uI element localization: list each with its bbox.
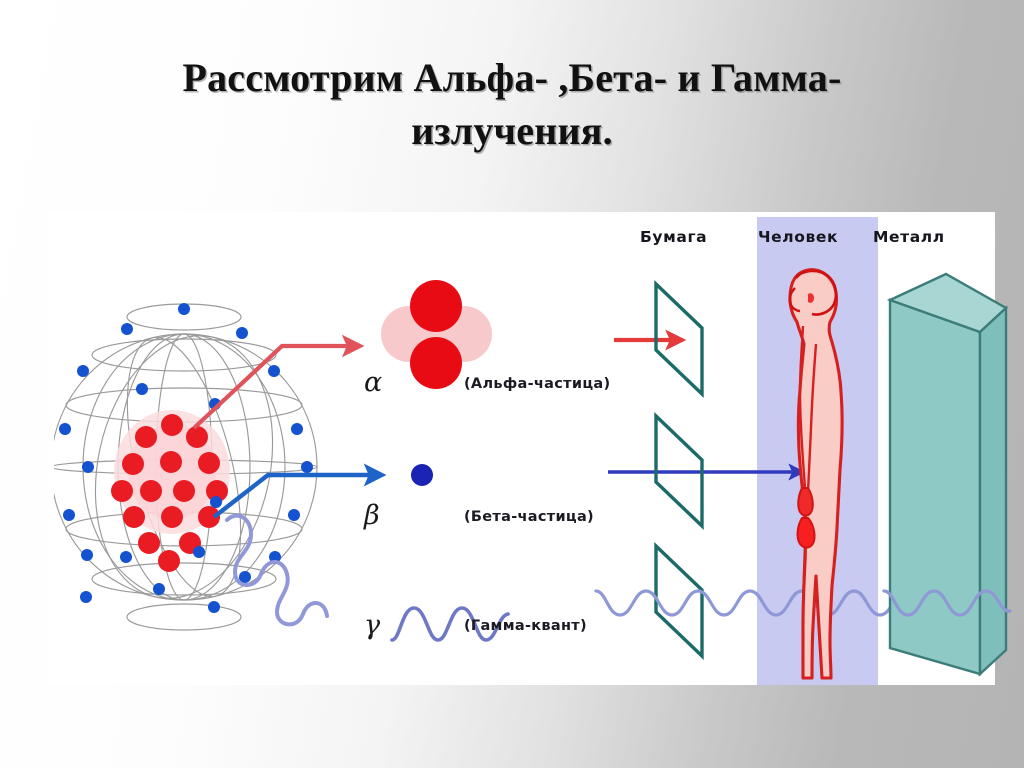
gamma-caption: (Гамма-квант) [464, 618, 587, 634]
alpha-proton-bottom [410, 337, 462, 389]
beta-caption: (Бета-частица) [464, 509, 594, 525]
diagram-stage: α (Альфа-частица) β (Бета-частица) [46, 212, 995, 685]
column-header-metal: Металл [873, 228, 945, 246]
column-header-paper: Бумага [640, 228, 707, 246]
page-title: Рассмотрим Альфа- ,Бета- и Гамма- излуче… [60, 52, 964, 158]
beta-particle-dot [402, 455, 442, 495]
slide-canvas: Рассмотрим Альфа- ,Бета- и Гамма- излуче… [0, 0, 1024, 768]
diagram-panel: α (Альфа-частица) β (Бета-частица) [46, 212, 995, 685]
gamma-symbol: γ [364, 610, 380, 641]
page-title-line-1: Рассмотрим Альфа- ,Бета- и Гамма- [182, 55, 841, 100]
human-figure [762, 260, 874, 680]
gamma-wave-over-metal [882, 565, 1024, 625]
page-title-line-2: излучения. [411, 108, 613, 153]
column-header-human: Человек [758, 228, 838, 246]
alpha-proton-top [410, 280, 462, 332]
alpha-symbol: α [364, 367, 382, 398]
alpha-caption: (Альфа-частица) [464, 376, 610, 392]
